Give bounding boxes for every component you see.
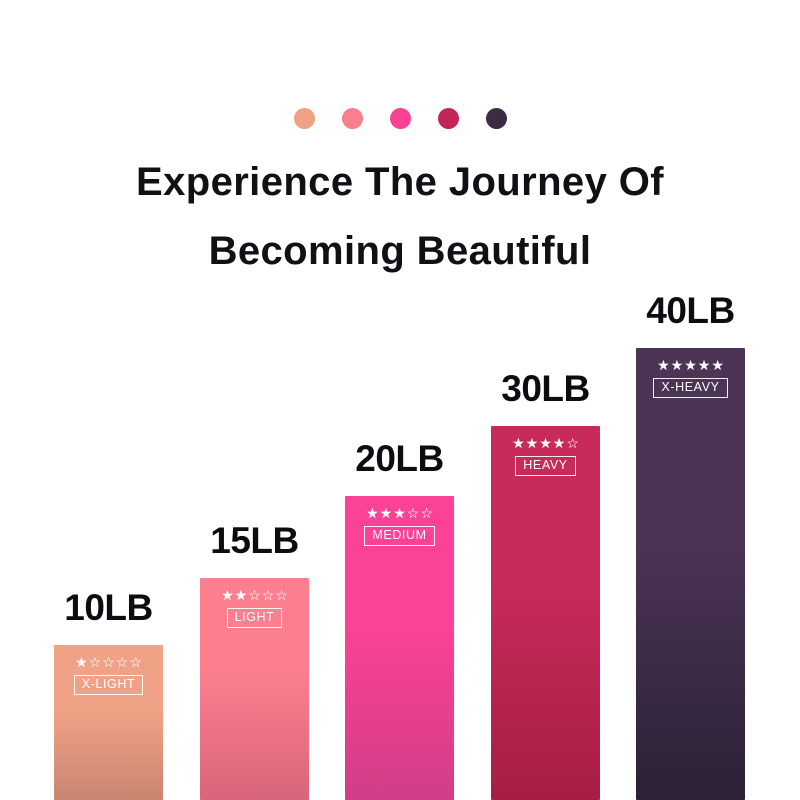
bar-40lb-badge: ★★★★★X-HEAVY (636, 358, 745, 398)
bar-30lb-fill (491, 426, 600, 800)
star-empty-icon: ☆ (407, 506, 420, 521)
bar-20lb-weight-label: 20LB (355, 440, 443, 477)
star-empty-icon: ☆ (248, 588, 261, 603)
bar-10lb-level-label: X-LIGHT (74, 675, 144, 695)
star-filled-icon: ★ (512, 436, 525, 451)
bar-40lb-weight-label: 40LB (646, 292, 734, 329)
bar-40lb-fill (636, 348, 745, 800)
star-filled-icon: ★ (393, 506, 406, 521)
star-filled-icon: ★ (539, 436, 552, 451)
star-filled-icon: ★ (526, 436, 539, 451)
star-filled-icon: ★ (366, 506, 379, 521)
star-empty-icon: ☆ (566, 436, 579, 451)
bar-15lb[interactable]: ★★☆☆☆LIGHT15LB (200, 578, 309, 800)
bar-10lb[interactable]: ★☆☆☆☆X-LIGHT10LB (54, 645, 163, 800)
bar-40lb-star-rating: ★★★★★ (657, 358, 724, 373)
star-empty-icon: ☆ (102, 655, 115, 670)
bar-30lb[interactable]: ★★★★☆HEAVY30LB (491, 426, 600, 800)
bar-30lb-level-label: HEAVY (515, 456, 575, 476)
bar-15lb-badge: ★★☆☆☆LIGHT (200, 588, 309, 628)
star-filled-icon: ★ (380, 506, 393, 521)
star-empty-icon: ☆ (275, 588, 288, 603)
bar-20lb-star-rating: ★★★☆☆ (366, 506, 433, 521)
star-empty-icon: ☆ (420, 506, 433, 521)
bar-15lb-star-rating: ★★☆☆☆ (221, 588, 288, 603)
bar-10lb-weight-label: 10LB (64, 589, 152, 626)
bar-20lb-level-label: MEDIUM (364, 526, 434, 546)
bar-40lb[interactable]: ★★★★★X-HEAVY40LB (636, 348, 745, 800)
star-filled-icon: ★ (698, 358, 711, 373)
star-filled-icon: ★ (657, 358, 670, 373)
bar-15lb-weight-label: 15LB (210, 522, 298, 559)
bar-15lb-level-label: LIGHT (227, 608, 283, 628)
star-empty-icon: ☆ (89, 655, 102, 670)
star-empty-icon: ☆ (116, 655, 129, 670)
bar-30lb-star-rating: ★★★★☆ (512, 436, 579, 451)
star-filled-icon: ★ (684, 358, 697, 373)
resistance-bar-chart: ★☆☆☆☆X-LIGHT10LB★★☆☆☆LIGHT15LB★★★☆☆MEDIU… (0, 0, 800, 800)
bar-20lb-badge: ★★★☆☆MEDIUM (345, 506, 454, 546)
bar-20lb[interactable]: ★★★☆☆MEDIUM20LB (345, 496, 454, 800)
star-empty-icon: ☆ (129, 655, 142, 670)
bar-30lb-weight-label: 30LB (501, 370, 589, 407)
star-filled-icon: ★ (235, 588, 248, 603)
star-filled-icon: ★ (75, 655, 88, 670)
bar-40lb-level-label: X-HEAVY (653, 378, 727, 398)
star-empty-icon: ☆ (262, 588, 275, 603)
bar-10lb-badge: ★☆☆☆☆X-LIGHT (54, 655, 163, 695)
promo-graphic: Experience The Journey Of Becoming Beaut… (0, 0, 800, 800)
star-filled-icon: ★ (553, 436, 566, 451)
bar-30lb-badge: ★★★★☆HEAVY (491, 436, 600, 476)
star-filled-icon: ★ (671, 358, 684, 373)
star-filled-icon: ★ (221, 588, 234, 603)
bar-10lb-star-rating: ★☆☆☆☆ (75, 655, 142, 670)
star-filled-icon: ★ (711, 358, 724, 373)
